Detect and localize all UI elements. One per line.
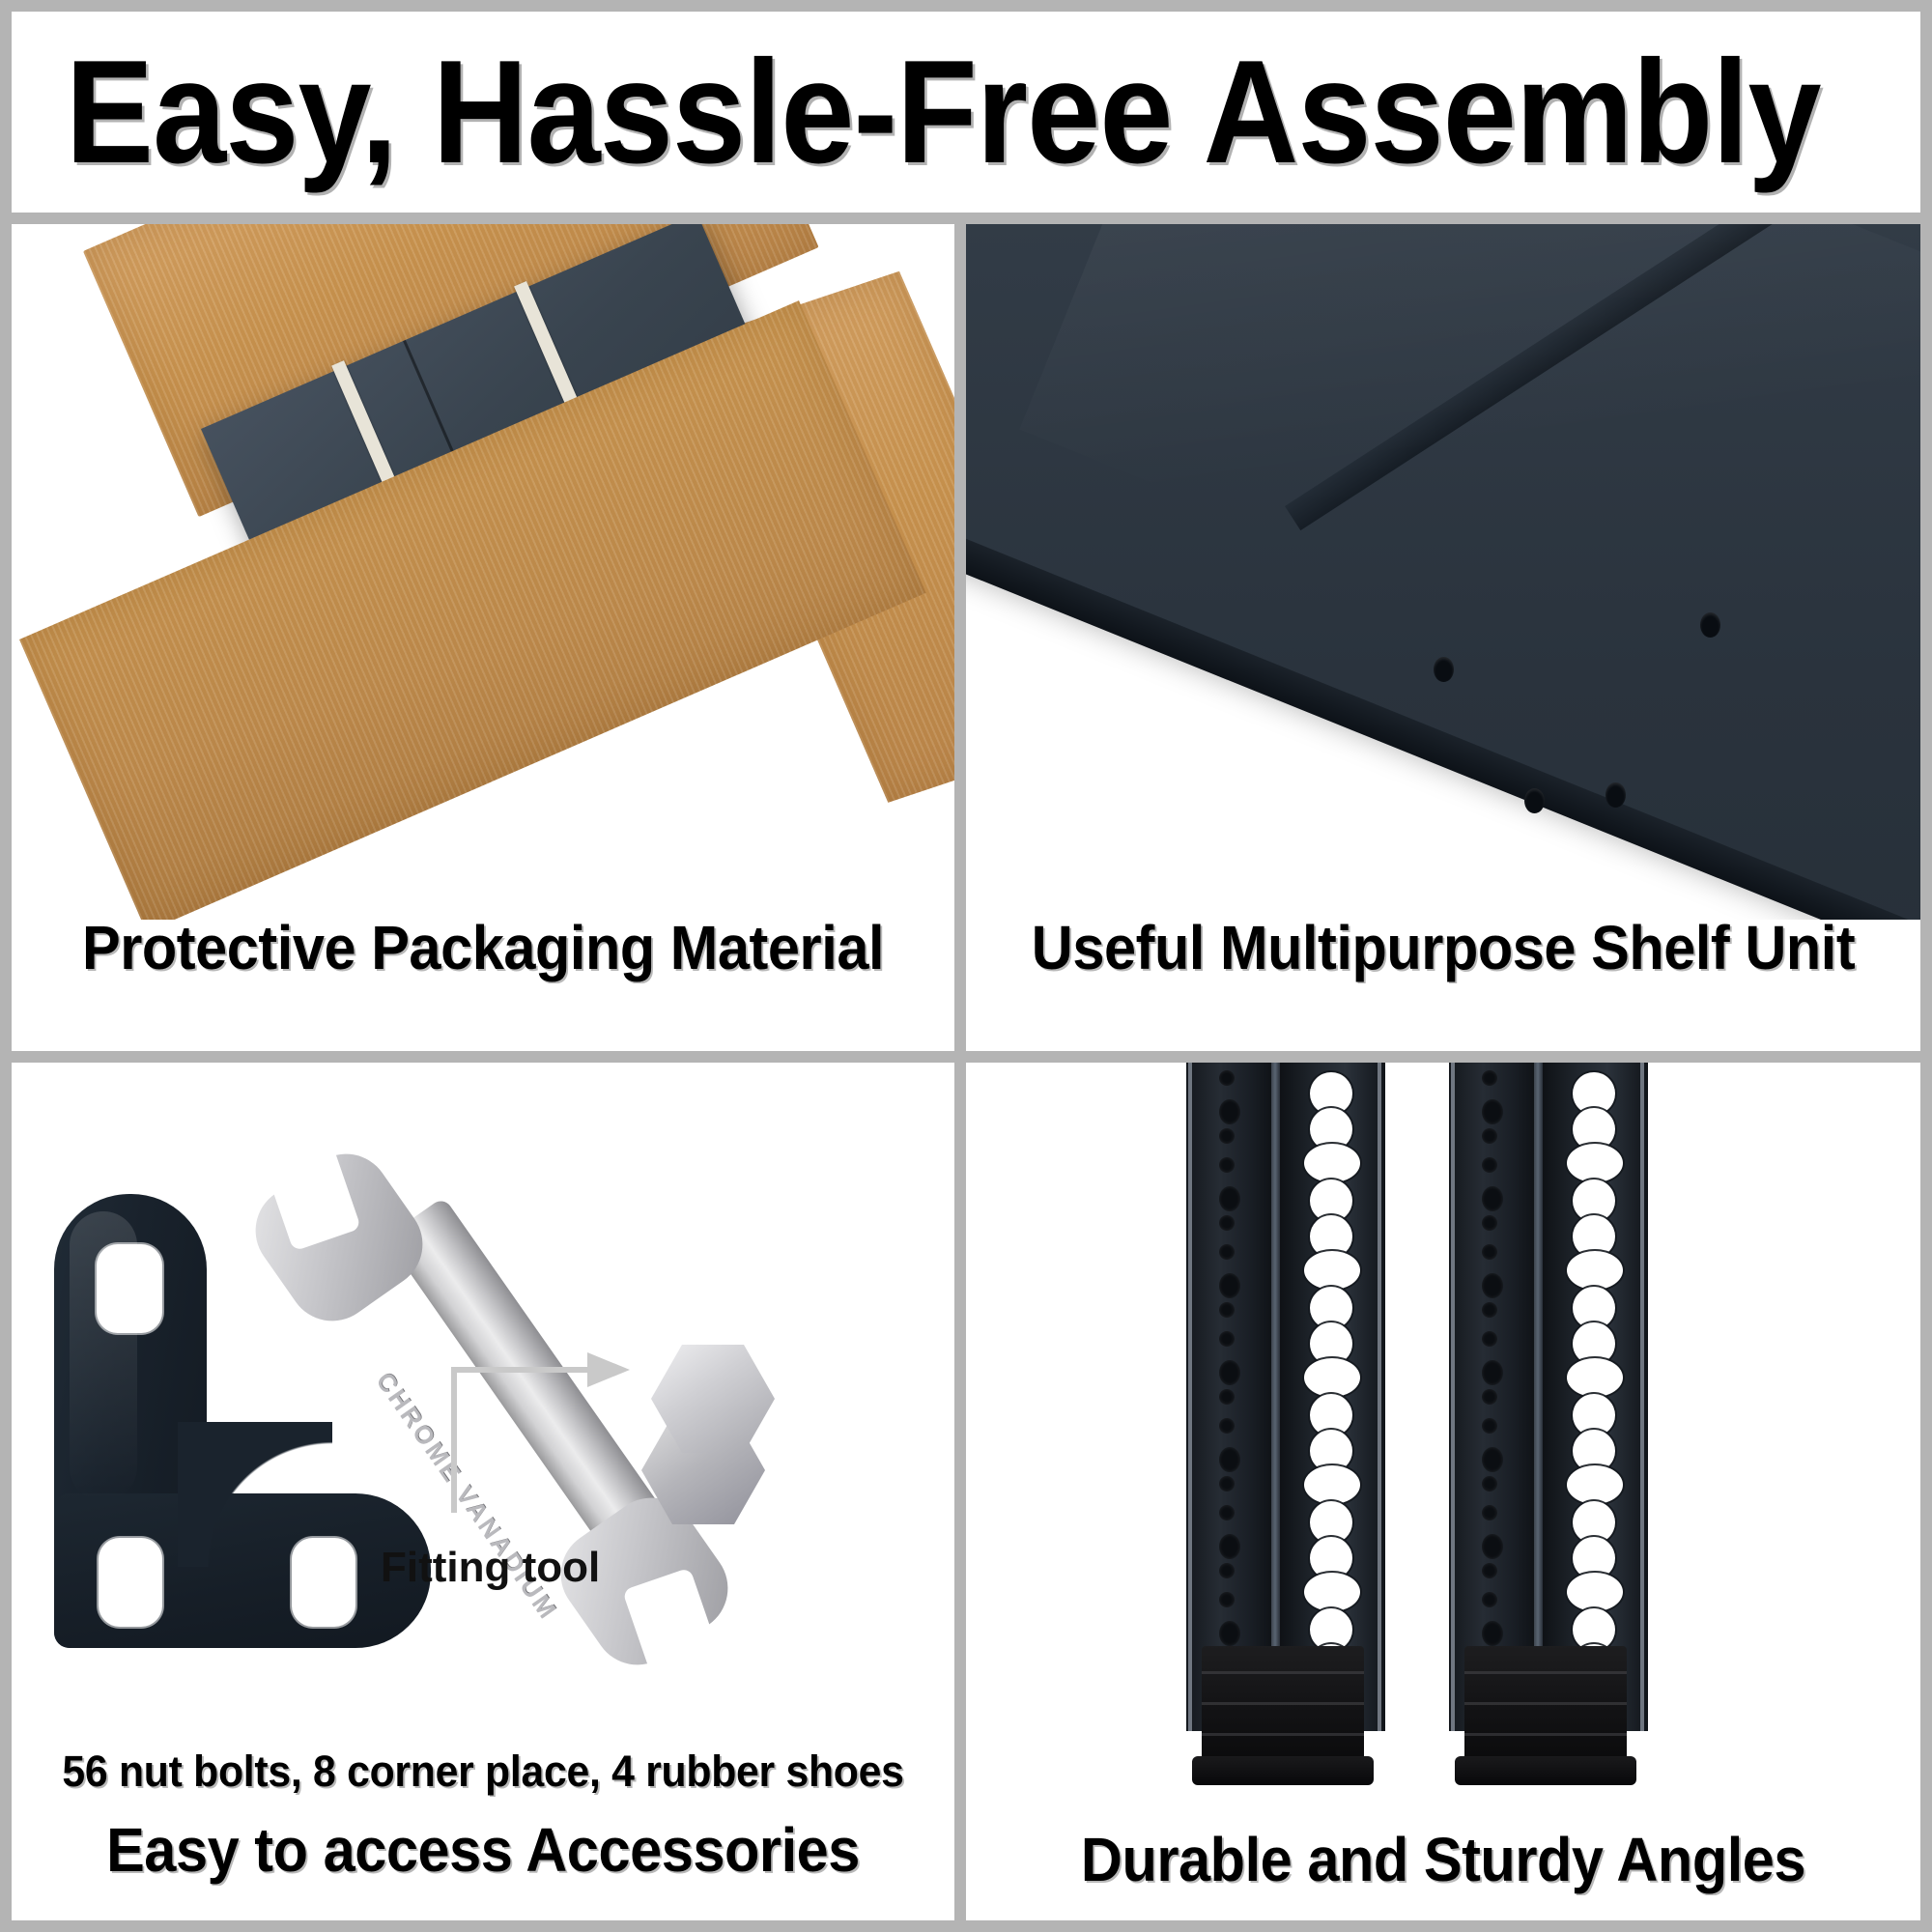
angle-slot-icon	[1219, 1099, 1240, 1124]
angle-slot-icon	[1219, 1331, 1235, 1347]
shelf-bolt-hole-icon	[1524, 788, 1545, 813]
angle-slot-icon	[1482, 1447, 1503, 1472]
angle-slot-icon	[1482, 1389, 1497, 1405]
angle-slot-icon	[1482, 1215, 1497, 1231]
panel-caption-multipurpose-shelf: Useful Multipurpose Shelf Unit	[1000, 912, 1888, 983]
title-band: Easy, Hassle-Free Assembly	[12, 12, 1920, 213]
angle-slot-icon	[1219, 1505, 1235, 1520]
rubber-shoe-foot-icon	[1202, 1646, 1364, 1770]
accessories-scene: CHROME VANADIUM	[12, 1063, 954, 1712]
angles-illustration	[966, 1063, 1920, 1797]
shelf-bolt-hole-icon	[1434, 657, 1454, 682]
shelf-bolt-hole-icon	[1700, 612, 1720, 638]
angle-slot-icon	[1219, 1389, 1235, 1405]
angle-slot-icon	[1219, 1157, 1235, 1173]
angle-slot-icon	[1482, 1418, 1497, 1434]
angle-slot-icon	[1219, 1360, 1240, 1385]
angle-slot-icon	[1482, 1273, 1503, 1298]
angle-slot-icon	[1482, 1070, 1497, 1086]
panel-protective-packaging: Protective Packaging Material	[12, 224, 954, 1051]
angle-slot-icon	[1567, 1358, 1623, 1397]
angle-slot-icon	[1482, 1592, 1497, 1607]
angle-slot-icon	[1219, 1070, 1235, 1086]
shelf-bolt-hole-icon	[1605, 782, 1626, 808]
angle-slot-icon	[1482, 1505, 1497, 1520]
angle-slot-icon	[1219, 1128, 1235, 1144]
angle-slot-icon	[1219, 1302, 1235, 1318]
angle-slot-icon	[1482, 1331, 1497, 1347]
shelf-board-icon	[966, 224, 1920, 920]
slotted-angle-upright-icon	[1449, 1063, 1648, 1731]
angle-slot-icon	[1304, 1144, 1360, 1182]
carton-scene	[12, 224, 954, 920]
page-title: Easy, Hassle-Free Assembly	[12, 43, 1821, 182]
angle-slot-icon	[1219, 1186, 1240, 1211]
angle-slot-icon	[1482, 1534, 1503, 1559]
angle-slot-icon	[1482, 1157, 1497, 1173]
hex-bolt-and-nut-icon	[638, 1345, 821, 1538]
angle-slot-icon	[1567, 1573, 1623, 1611]
panel-accessories: CHROME VANADIUM Fitting tool 56 nut bolt…	[12, 1063, 954, 1920]
angle-slot-icon	[1567, 1251, 1623, 1290]
bracket-slot-icon	[97, 1244, 162, 1333]
angle-slot-icon	[1304, 1358, 1360, 1397]
angle-slot-icon	[1482, 1186, 1503, 1211]
product-infographic: Easy, Hassle-Free Assembly Protective	[0, 0, 1932, 1932]
angle-slot-icon	[1219, 1215, 1235, 1231]
accessories-contents-text: 56 nut bolts, 8 corner place, 4 rubber s…	[35, 1747, 930, 1797]
shelf-illustration	[966, 224, 1920, 920]
panel-multipurpose-shelf: Useful Multipurpose Shelf Unit	[966, 224, 1920, 1051]
panel-sturdy-angles: Durable and Sturdy Angles	[966, 1063, 1920, 1920]
accessories-illustration: CHROME VANADIUM	[12, 1063, 954, 1712]
bracket-slot-icon	[99, 1538, 162, 1627]
callout-label-fitting-tool: Fitting tool	[381, 1544, 600, 1592]
shelf-scene	[966, 224, 1920, 920]
panel-caption-protective-packaging: Protective Packaging Material	[44, 912, 922, 983]
angle-slot-icon	[1219, 1592, 1235, 1607]
angle-slot-icon	[1219, 1534, 1240, 1559]
rubber-shoe-foot-icon	[1464, 1646, 1627, 1770]
angle-slot-icon	[1219, 1273, 1240, 1298]
angle-slot-icon	[1482, 1360, 1503, 1385]
angle-slot-icon	[1567, 1465, 1623, 1504]
angle-slot-icon	[1219, 1476, 1235, 1492]
packaging-illustration	[12, 224, 954, 920]
angle-slot-icon	[1304, 1573, 1360, 1611]
angle-slot-icon	[1304, 1251, 1360, 1290]
angle-slot-icon	[1482, 1476, 1497, 1492]
angle-slot-icon	[1219, 1563, 1235, 1578]
angle-slot-icon	[1482, 1563, 1497, 1578]
angle-slot-icon	[1482, 1302, 1497, 1318]
angle-slot-icon	[1304, 1465, 1360, 1504]
panel-caption-sturdy-angles: Durable and Sturdy Angles	[1000, 1824, 1888, 1895]
angle-slot-icon	[1482, 1244, 1497, 1260]
angle-slot-icon	[1219, 1447, 1240, 1472]
angle-slot-icon	[1482, 1128, 1497, 1144]
angles-scene	[966, 1063, 1920, 1797]
angle-slot-icon	[1567, 1144, 1623, 1182]
angle-slot-icon	[1482, 1621, 1503, 1646]
angle-slot-icon	[1482, 1099, 1503, 1124]
slotted-angle-upright-icon	[1186, 1063, 1385, 1731]
panel-caption-accessories: Easy to access Accessories	[44, 1814, 922, 1886]
angle-slot-icon	[1219, 1244, 1235, 1260]
angle-slot-icon	[1219, 1418, 1235, 1434]
angle-slot-icon	[1219, 1621, 1240, 1646]
